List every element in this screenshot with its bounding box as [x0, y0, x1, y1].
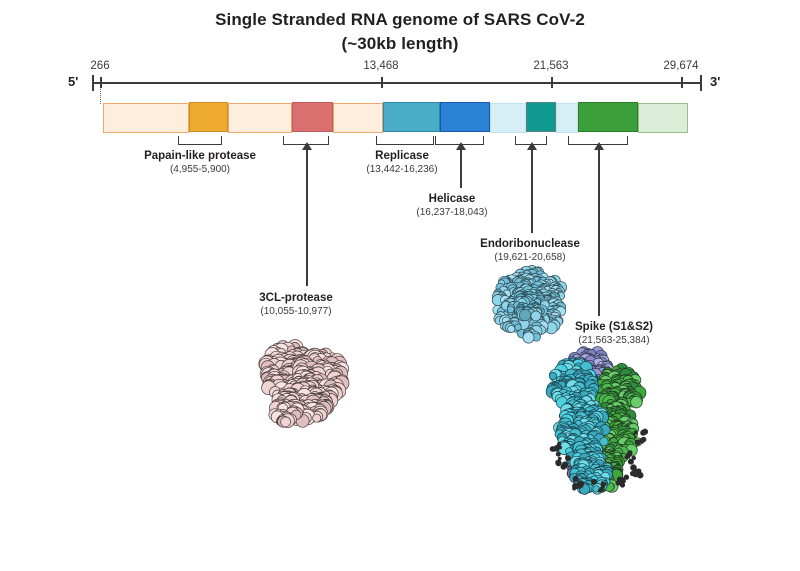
endoribonuclease-structure — [487, 264, 573, 344]
axis-tick-label: 29,674 — [663, 60, 698, 72]
axis-tick-label: 21,563 — [533, 60, 568, 72]
three-prime-label: 3' — [710, 74, 720, 89]
genome-segment-replicase-box — [383, 102, 440, 132]
genome-segment-helicase-box — [440, 102, 490, 132]
axis-tick — [100, 77, 102, 88]
arrow-stem-endoribonuclease — [531, 149, 533, 233]
axis-cap-left — [92, 75, 94, 91]
callout-range-replicase: (13,442-16,236) — [366, 163, 437, 177]
arrow-head-3cl-protease — [302, 142, 312, 150]
callout-name-endoribonuclease: Endoribonuclease — [480, 237, 580, 251]
callout-range-3cl-protease: (10,055-10,977) — [259, 305, 333, 319]
callout-range-endoribonuclease: (19,621-20,658) — [480, 251, 580, 265]
callout-papain-like-protease: Papain-like protease(4,955-5,900) — [144, 149, 256, 177]
3cl-protease-structure — [248, 330, 358, 430]
diagram-title: Single Stranded RNA genome of SARS CoV-2… — [0, 8, 800, 56]
callout-helicase: Helicase(16,237-18,043) — [416, 192, 487, 220]
five-prime-label: 5' — [68, 74, 78, 89]
arrow-head-spike — [594, 142, 604, 150]
genome-bar — [103, 103, 688, 133]
callout-name-helicase: Helicase — [416, 192, 487, 206]
title-line-2: (~30kb length) — [0, 32, 800, 56]
arrow-head-endoribonuclease — [527, 142, 537, 150]
genome-segment-orf1a-left — [103, 103, 189, 133]
start-position-dotted-line — [100, 84, 101, 104]
arrow-stem-helicase — [460, 149, 462, 188]
genome-scale-axis: 5' 3' 26613,46821,56329,674 — [0, 0, 800, 571]
callout-name-3cl-protease: 3CL-protease — [259, 291, 333, 305]
callout-3cl-protease: 3CL-protease(10,055-10,977) — [259, 291, 333, 319]
genome-segment-spike-box — [578, 102, 638, 132]
genome-segment-nsp-light — [556, 103, 578, 133]
arrow-stem-spike — [598, 149, 600, 316]
callout-name-replicase: Replicase — [366, 149, 437, 163]
bracket-papain-like-protease — [178, 136, 222, 145]
axis-tick-label: 266 — [90, 60, 109, 72]
axis-tick — [681, 77, 683, 88]
genome-segment-orf1a-mid — [228, 103, 292, 133]
title-line-1: Single Stranded RNA genome of SARS CoV-2 — [0, 8, 800, 32]
genome-segment-endoribonuclease-box — [526, 102, 556, 132]
genome-segment-orf1a-right — [333, 103, 383, 133]
callout-range-papain-like-protease: (4,955-5,900) — [144, 163, 256, 177]
callout-spike: Spike (S1&S2)(21,563-25,384) — [575, 320, 653, 348]
genome-segment-3cl-protease-box — [292, 102, 333, 132]
genome-segment-structural-light — [638, 103, 688, 133]
arrow-head-helicase — [456, 142, 466, 150]
spike-structure — [533, 345, 653, 495]
bracket-replicase — [376, 136, 434, 145]
genome-segment-orf1b-light — [490, 103, 526, 133]
genome-segment-papain-like-box — [189, 102, 228, 132]
callout-replicase: Replicase(13,442-16,236) — [366, 149, 437, 177]
callout-range-helicase: (16,237-18,043) — [416, 206, 487, 220]
axis-tick — [551, 77, 553, 88]
axis-cap-right — [700, 75, 702, 91]
callout-name-papain-like-protease: Papain-like protease — [144, 149, 256, 163]
axis-line — [92, 82, 702, 84]
axis-tick — [381, 77, 383, 88]
arrow-stem-3cl-protease — [306, 149, 308, 286]
callout-name-spike: Spike (S1&S2) — [575, 320, 653, 334]
axis-tick-label: 13,468 — [363, 60, 398, 72]
callout-endoribonuclease: Endoribonuclease(19,621-20,658) — [480, 237, 580, 265]
